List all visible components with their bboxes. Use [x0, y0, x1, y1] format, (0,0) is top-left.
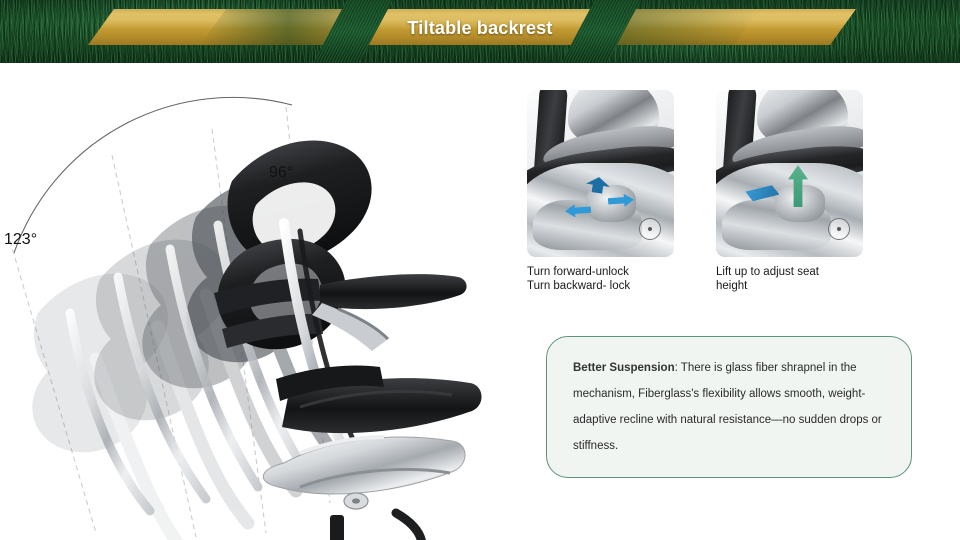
main-content: 96° 123° Turn forward-unlock Turn backwa…	[0, 63, 960, 540]
suspension-callout-box: Better Suspension: There is glass fiber …	[546, 336, 912, 478]
callout-text: Better Suspension: There is glass fiber …	[573, 355, 889, 459]
tension-dial-icon	[639, 218, 661, 240]
photo-tilt-lock-knob[interactable]	[527, 90, 674, 257]
photo-caption-seat-height: Lift up to adjust seat height	[716, 265, 863, 293]
page-header-banner: Tiltable backrest	[0, 0, 960, 63]
photo-card-tilt-lock[interactable]: Turn forward-unlock Turn backward- lock	[527, 90, 674, 293]
tension-dial-icon	[828, 218, 850, 240]
photo-caption-tilt-lock: Turn forward-unlock Turn backward- lock	[527, 265, 674, 293]
chair-recline-svg	[0, 63, 520, 540]
photo-card-seat-height[interactable]: Lift up to adjust seat height	[716, 90, 863, 293]
callout-body: There is glass fiber shrapnel in the mec…	[573, 362, 882, 452]
angle-label-123: 123°	[4, 231, 37, 249]
angle-label-96: 96°	[269, 164, 293, 182]
armrest	[312, 274, 467, 351]
page-title: Tiltable backrest	[0, 18, 960, 39]
callout-lead: Better Suspension	[573, 362, 675, 374]
photo-seat-height-lever[interactable]	[716, 90, 863, 257]
recline-illustration: 96° 123°	[0, 63, 520, 540]
